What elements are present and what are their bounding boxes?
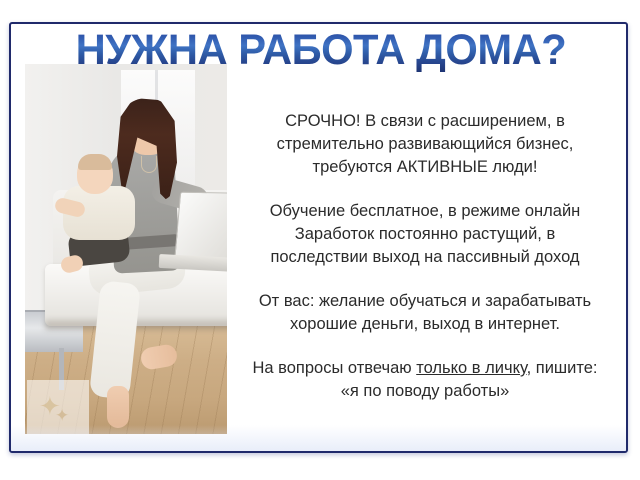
copy-line: От вас: желание обучаться и зарабатывать bbox=[225, 290, 625, 313]
photo-baby-hair bbox=[78, 154, 112, 170]
copy-line: хорошие деньги, выход в интернет. bbox=[225, 313, 625, 336]
photo-woman-necklace bbox=[141, 156, 157, 173]
copy-line: требуются АКТИВНЫЕ люди! bbox=[225, 156, 625, 179]
poster-frame: НУЖНА РАБОТА ДОМА? НУЖНА РАБОТА ДОМА? bbox=[9, 22, 628, 453]
poster-canvas: НУЖНА РАБОТА ДОМА? НУЖНА РАБОТА ДОМА? bbox=[0, 0, 640, 480]
contact-suffix: , пишите: bbox=[527, 359, 598, 377]
copy-line: последствии выход на пассивный доход bbox=[225, 246, 625, 269]
contact-prefix: На вопросы отвечаю bbox=[252, 359, 416, 377]
paragraph-requirements: От вас: желание обучаться и зарабатывать… bbox=[225, 290, 625, 336]
poster-body-copy: СРОЧНО! В связи с расширением, в стремит… bbox=[225, 110, 625, 404]
copy-line: Заработок постоянно растущий, в bbox=[225, 223, 625, 246]
star-icon-small: ✦ bbox=[55, 408, 69, 425]
copy-line-contact: На вопросы отвечаю только в личку, пишит… bbox=[225, 357, 625, 380]
paragraph-offer: Обучение бесплатное, в режиме онлайн Зар… bbox=[225, 200, 625, 269]
copy-line: Обучение бесплатное, в режиме онлайн bbox=[225, 200, 625, 223]
copy-line: стремительно развивающийся бизнес, bbox=[225, 133, 625, 156]
paragraph-contact: На вопросы отвечаю только в личку, пишит… bbox=[225, 357, 625, 403]
paragraph-urgency: СРОЧНО! В связи с расширением, в стремит… bbox=[225, 110, 625, 179]
copy-line: СРОЧНО! В связи с расширением, в bbox=[225, 110, 625, 133]
contact-emphasis: только в личку bbox=[416, 359, 526, 377]
photo-woman-foot-standing bbox=[107, 386, 129, 428]
photo-woman-with-baby-and-laptop: ✦ ✦ bbox=[25, 64, 227, 434]
copy-line-quote: «я по поводу работы» bbox=[225, 380, 625, 403]
